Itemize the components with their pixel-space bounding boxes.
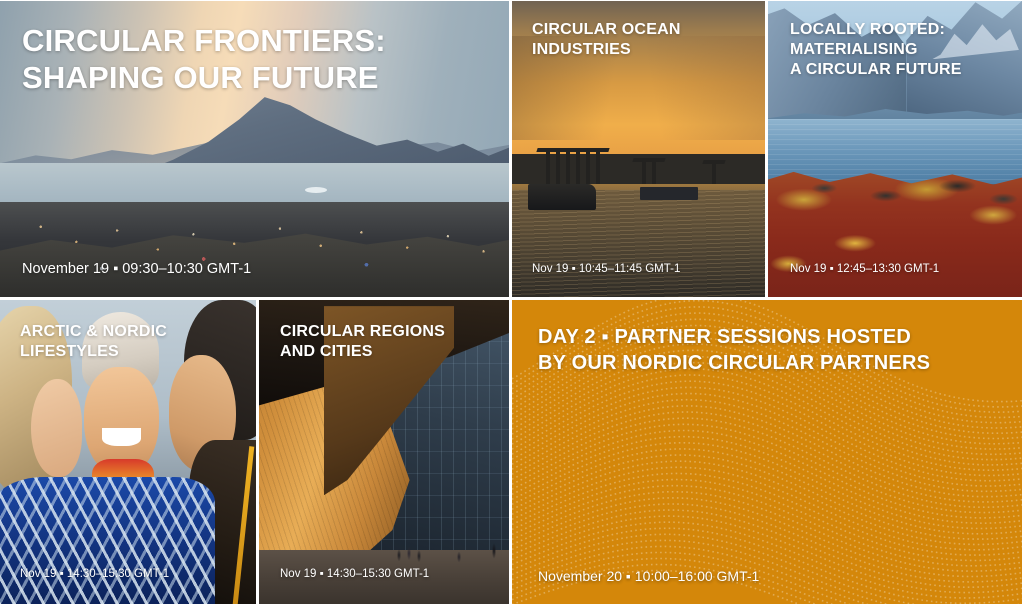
session-title: CIRCULAR REGIONS AND CITIES (280, 322, 445, 362)
session-title: DAY 2 ▪ PARTNER SESSIONS HOSTED BY OUR N… (538, 324, 930, 376)
session-date: Nov 19 ▪ 10:45–11:45 GMT-1 (532, 263, 680, 275)
session-card-circular-ocean-industries[interactable]: CIRCULAR OCEAN INDUSTRIES Nov 19 ▪ 10:45… (512, 0, 765, 297)
canvas-edge-top (0, 0, 1024, 1)
session-date: November 20 ▪ 10:00–16:00 GMT-1 (538, 568, 759, 584)
session-title: LOCALLY ROOTED: MATERIALISING A CIRCULAR… (790, 20, 962, 80)
session-card-day-2-partner-sessions[interactable]: DAY 2 ▪ PARTNER SESSIONS HOSTED BY OUR N… (512, 300, 1024, 605)
session-title: ARCTIC & NORDIC LIFESTYLES (20, 322, 167, 362)
session-card-circular-regions-and-cities[interactable]: CIRCULAR REGIONS AND CITIES Nov 19 ▪ 14:… (259, 300, 509, 605)
session-card-circular-frontiers[interactable]: CIRCULAR FRONTIERS: SHAPING OUR FUTURE N… (0, 0, 509, 297)
session-card-locally-rooted[interactable]: LOCALLY ROOTED: MATERIALISING A CIRCULAR… (768, 0, 1024, 297)
session-card-grid: CIRCULAR FRONTIERS: SHAPING OUR FUTURE N… (0, 0, 1024, 605)
session-date: Nov 19 ▪ 12:45–13:30 GMT-1 (790, 263, 939, 275)
session-card-arctic-nordic-lifestyles[interactable]: ARCTIC & NORDIC LIFESTYLES Nov 19 ▪ 14:3… (0, 300, 256, 605)
session-title: CIRCULAR OCEAN INDUSTRIES (532, 20, 681, 60)
session-date: November 19 ▪ 09:30–10:30 GMT-1 (22, 261, 251, 277)
session-title: CIRCULAR FRONTIERS: SHAPING OUR FUTURE (22, 22, 386, 96)
session-date: Nov 19 ▪ 14:30–15:30 GMT-1 (20, 568, 169, 580)
session-date: Nov 19 ▪ 14:30–15:30 GMT-1 (280, 568, 429, 580)
